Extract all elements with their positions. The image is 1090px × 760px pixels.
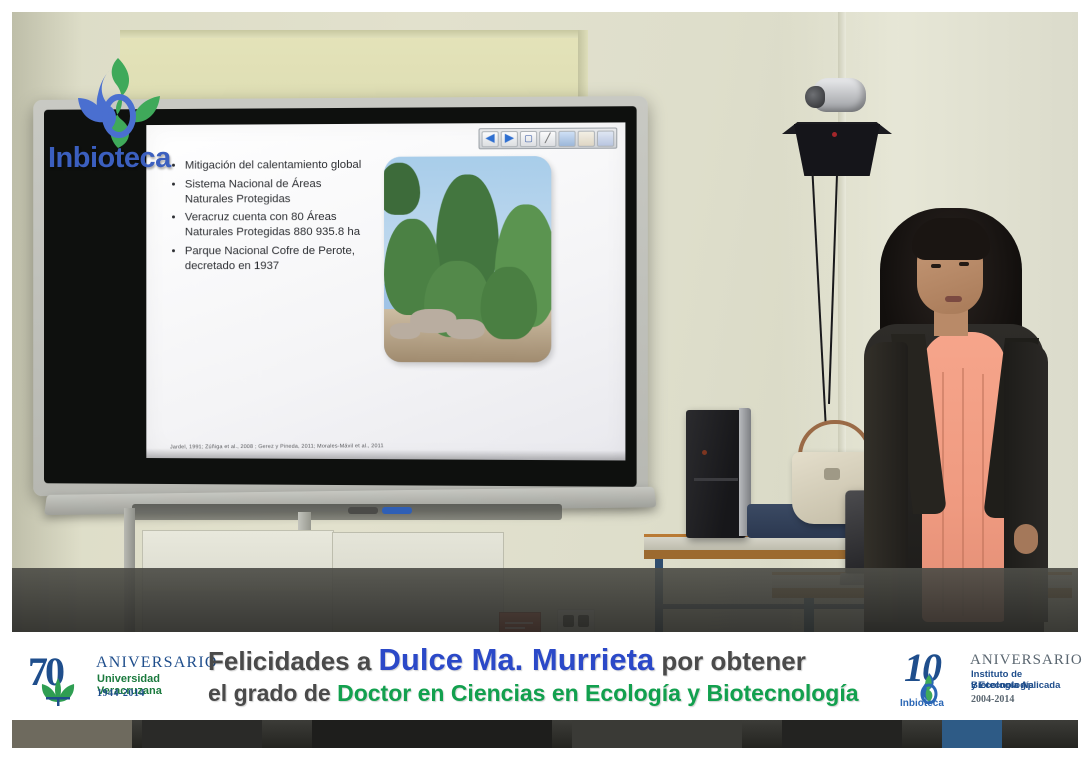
uv-aniversario-label: ANIVERSARIO	[96, 654, 218, 672]
camera-led-icon	[832, 132, 837, 137]
camera-wall-mount	[794, 124, 880, 176]
banner-line-1: Felicidades a Dulce Ma. Murrieta por obt…	[208, 642, 888, 678]
banner-line1-suffix: por obtener	[661, 646, 805, 676]
camera-lens-icon	[805, 86, 825, 108]
pen-icon[interactable]: ╱	[539, 130, 556, 146]
strip-object	[572, 720, 742, 748]
marker-dark[interactable]	[348, 507, 378, 514]
strip-object	[312, 720, 552, 748]
presenter-eye-right	[959, 262, 969, 266]
slide-bullet-item: Sistema Nacional de Áreas Naturales Prot…	[185, 177, 371, 207]
inbioteca-overlay-logo: Inbioteca	[48, 56, 198, 176]
projection-screen-roller	[120, 30, 578, 38]
slide-toolbar[interactable]: ◀ ▶ ▢ ╱	[479, 127, 618, 149]
photo-tree	[481, 267, 538, 339]
back-arrow-icon[interactable]: ◀	[482, 131, 499, 147]
graduate-name: Dulce Ma. Murrieta	[379, 642, 655, 677]
handbag-clasp-icon	[824, 468, 840, 480]
inbioteca-years-label: 2004-2014	[971, 694, 1014, 705]
degree-name: Doctor en Ciencias en Ecología y Biotecn…	[337, 680, 858, 706]
slide-bullet-item: Veracruz cuenta con 80 Áreas Naturales P…	[185, 210, 371, 240]
inbioteca-institution-line2: y Ecología Aplicada	[971, 680, 1060, 691]
banner-line-2: el grado de Doctor en Ciencias en Ecolog…	[208, 680, 888, 707]
desktop-computer-tower	[686, 410, 746, 538]
uv-anniversary-logo: 70 ANIVERSARIO Universidad Veracruzana 1…	[14, 646, 200, 708]
page-icon[interactable]	[578, 130, 595, 146]
inbioteca-anniversary-logo: 10 Inbioteca ANIVERSARIO Instituto de Bi…	[898, 644, 1082, 712]
banner-headline: Felicidades a Dulce Ma. Murrieta por obt…	[208, 642, 888, 707]
photo-rock	[446, 319, 484, 339]
screenshot-root: ◀ ▶ ▢ ╱ Mitigación del calentamiento glo…	[0, 0, 1090, 760]
pen-tray-recess	[132, 504, 562, 520]
uv-years-label: 1944-2014	[97, 688, 145, 699]
slide-bottom-shadow	[146, 448, 625, 460]
slide-photo-pine-forest	[384, 156, 551, 362]
floor-shadow	[12, 568, 1078, 632]
banner-line2-prefix: el grado de	[208, 680, 331, 706]
presenter-mouth	[945, 296, 962, 302]
eraser-icon[interactable]: ▢	[520, 130, 537, 146]
inbioteca-wordmark: Inbioteca	[48, 142, 171, 175]
inbioteca-wordmark-small: Inbioteca	[900, 698, 944, 709]
presenter-hand	[1014, 524, 1038, 554]
strip-object	[12, 720, 132, 748]
strip-object	[782, 720, 902, 748]
flame-leaf-icon	[48, 56, 198, 152]
photo-bottom-strip	[12, 720, 1078, 748]
presentation-slide: ◀ ▶ ▢ ╱ Mitigación del calentamiento glo…	[146, 122, 625, 460]
strip-object	[942, 720, 1002, 748]
slide-bullet-item: Parque Nacional Cofre de Perote, decreta…	[185, 244, 371, 274]
close-icon[interactable]	[597, 130, 614, 146]
slide-bullet-list: Mitigación del calentamiento global Sist…	[172, 158, 371, 278]
presenter-eye-left	[931, 264, 941, 268]
fleur-de-lis-icon	[28, 676, 88, 706]
forward-arrow-icon[interactable]: ▶	[501, 131, 518, 147]
slide-bullet-item: Mitigación del calentamiento global	[185, 158, 371, 174]
photo-rock	[390, 323, 420, 339]
congratulations-banner: 70 ANIVERSARIO Universidad Veracruzana 1…	[0, 638, 1090, 720]
banner-line1-prefix: Felicidades a	[208, 646, 371, 676]
strip-object	[142, 720, 262, 748]
presentation-photo: ◀ ▶ ▢ ╱ Mitigación del calentamiento glo…	[12, 12, 1078, 632]
marker-blue[interactable]	[382, 507, 412, 514]
optical-drive-slot	[694, 478, 738, 481]
power-led-icon	[702, 450, 707, 455]
keyboard-icon[interactable]	[558, 130, 575, 146]
presenter-hair-front	[912, 218, 990, 260]
inbioteca-aniversario-label: ANIVERSARIO	[970, 652, 1083, 669]
